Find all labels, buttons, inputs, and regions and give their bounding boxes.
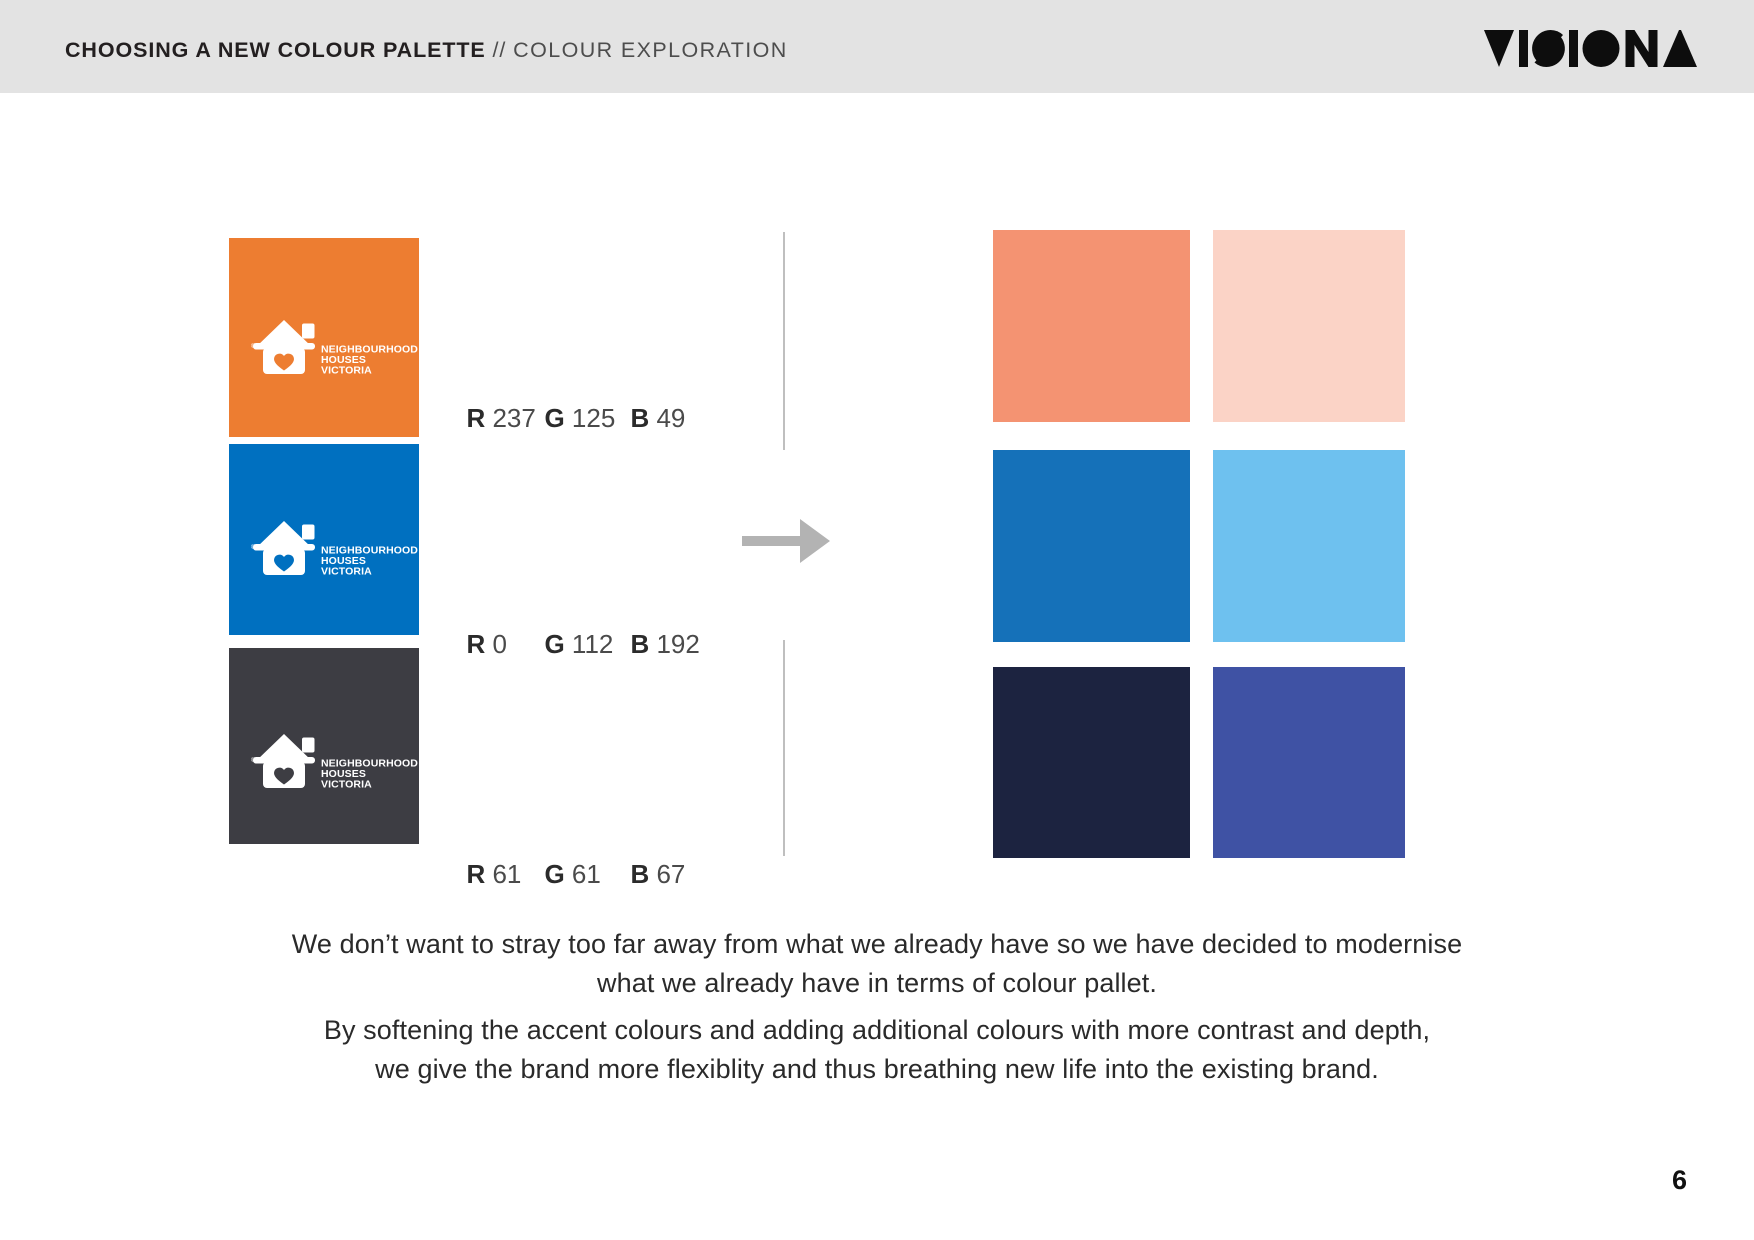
rgb-b-value: 67 [656, 859, 685, 889]
svg-text:VICTORIA: VICTORIA [321, 365, 372, 377]
body-paragraph-1: We don’t want to stray too far away from… [0, 925, 1754, 1003]
page-title-main: CHOOSING A NEW COLOUR PALETTE [65, 38, 486, 62]
page-title: CHOOSING A NEW COLOUR PALETTE // COLOUR … [65, 38, 788, 63]
palette-cell-ocean-blue [993, 450, 1190, 642]
rgb-r-label: R [466, 859, 485, 889]
palette-cell-indigo-blue [1213, 667, 1405, 858]
rgb-b-value: 192 [656, 629, 699, 659]
nhv-logo-orange: NEIGHBOURHOOD HOUSES VICTORIA ® NEIGHBOU… [247, 310, 422, 376]
rgb-g-value: 112 [572, 629, 613, 659]
visionary-logo: VISIONARY [1483, 26, 1698, 70]
svg-text:VICTORIA: VICTORIA [321, 779, 372, 791]
current-swatch-blue: NEIGHBOURHOOD HOUSES VICTORIA ® NEIGHBOU… [229, 444, 419, 635]
rgb-r-value: 0 [492, 629, 506, 659]
rgb-g-value: 125 [572, 403, 615, 433]
rgb-values-charcoal: R 61G 61B 67 [452, 828, 685, 890]
body-paragraph-2: By softening the accent colours and addi… [0, 1011, 1754, 1089]
palette-cell-midnight-navy [993, 667, 1190, 858]
rgb-r-value: 61 [492, 859, 521, 889]
current-swatch-orange: NEIGHBOURHOOD HOUSES VICTORIA ® NEIGHBOU… [229, 238, 419, 437]
body-paragraph-1-line-2: what we already have in terms of colour … [0, 964, 1754, 1003]
page-number: 6 [1672, 1165, 1687, 1196]
proposed-palette-grid [993, 230, 1405, 858]
rgb-b-label: B [630, 403, 649, 433]
palette-cell-sky-blue [1213, 450, 1405, 642]
rgb-g-value: 61 [572, 859, 601, 889]
rgb-g-label: G [544, 403, 564, 433]
rgb-g-label: G [544, 629, 564, 659]
rgb-g-label: G [544, 859, 564, 889]
palette-cell-pale-peach [1213, 230, 1405, 422]
rgb-values-orange: R 237G 125B 49 [452, 372, 685, 434]
svg-text:VICTORIA: VICTORIA [321, 566, 372, 578]
body-paragraph-2-line-1: By softening the accent colours and addi… [0, 1011, 1754, 1050]
nhv-logo-charcoal: NEIGHBOURHOOD HOUSES VICTORIA ® NEIGHBOU… [247, 724, 422, 790]
rgb-r-value: 237 [492, 403, 535, 433]
vertical-divider-top [783, 232, 785, 450]
svg-text:®: ® [251, 756, 256, 764]
body-paragraph-2-line-2: we give the brand more flexiblity and th… [0, 1050, 1754, 1089]
palette-cell-salmon [993, 230, 1190, 422]
rgb-r-label: R [466, 403, 485, 433]
page-title-subtitle: COLOUR EXPLORATION [513, 38, 788, 62]
page-title-separator: // [486, 38, 514, 62]
vertical-divider-bottom [783, 640, 785, 856]
rgb-b-label: B [630, 859, 649, 889]
page-header: CHOOSING A NEW COLOUR PALETTE // COLOUR … [0, 0, 1754, 93]
nhv-logo-blue: NEIGHBOURHOOD HOUSES VICTORIA ® NEIGHBOU… [247, 511, 422, 577]
arrow-right-icon [738, 505, 834, 577]
rgb-b-value: 49 [656, 403, 685, 433]
current-swatch-charcoal: NEIGHBOURHOOD HOUSES VICTORIA ® NEIGHBOU… [229, 648, 419, 844]
svg-text:®: ® [251, 543, 256, 551]
svg-text:®: ® [251, 342, 256, 350]
rgb-values-blue: R 0G 112B 192 [452, 598, 700, 660]
rgb-r-label: R [466, 629, 485, 659]
body-paragraph-1-line-1: We don’t want to stray too far away from… [0, 925, 1754, 964]
rgb-b-label: B [630, 629, 649, 659]
